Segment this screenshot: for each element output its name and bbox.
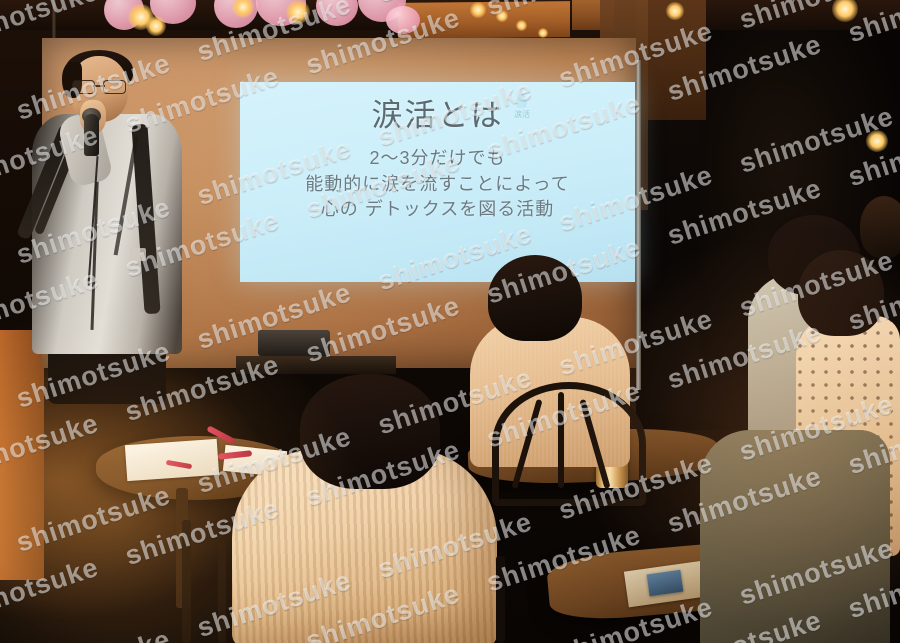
slide-body-line: 心の デトックスを図る活動 <box>305 197 570 223</box>
string-light-bulb <box>832 0 858 22</box>
flower-decoration <box>316 0 358 26</box>
slide-logo-label: 涙活 <box>503 109 541 120</box>
string-light-bulb <box>666 2 684 20</box>
string-light-bulb <box>286 0 310 24</box>
string-light-bulb <box>866 130 888 152</box>
teardrop-icon <box>514 90 529 110</box>
flower-light-decoration <box>0 0 900 40</box>
string-light-bulb <box>496 10 508 22</box>
audience-hair <box>300 374 440 489</box>
glasses-lens <box>72 80 95 94</box>
eyeglasses-icon <box>72 80 126 92</box>
string-light-bulb <box>146 16 166 36</box>
projector-unit <box>258 330 330 356</box>
chair-leg <box>182 520 191 643</box>
audience-hair <box>488 255 582 341</box>
glasses-lens <box>103 80 126 94</box>
audience-hair <box>798 250 884 336</box>
slide-body-line: 2〜3分だけでも <box>305 146 570 172</box>
audience-member <box>232 388 502 643</box>
name-badge <box>130 248 146 261</box>
audience-torso <box>700 430 890 643</box>
slide-body: 2〜3分だけでも 能動的に涙を流すことによって 心の デトックスを図る活動 <box>305 146 570 223</box>
photograph: 涙活とは 2〜3分だけでも 能動的に涙を流すことによって 心の デトックスを図る… <box>0 0 900 643</box>
equipment-shelf <box>236 356 396 374</box>
presenter <box>18 52 193 352</box>
projected-slide: 涙活とは 2〜3分だけでも 能動的に涙を流すことによって 心の デトックスを図る… <box>240 82 635 282</box>
teardrop-logo-icon: 涙活 <box>503 90 541 130</box>
microphone-icon <box>84 114 99 156</box>
string-light-bulb <box>516 20 527 31</box>
wood-panel <box>0 330 44 580</box>
chair-spoke <box>558 392 564 488</box>
string-light-bulb <box>470 2 486 18</box>
chair-leg <box>218 540 226 643</box>
slide-body-line: 能動的に涙を流すことによって <box>305 172 570 198</box>
glasses-bridge <box>93 85 105 87</box>
flower-decoration <box>386 6 420 34</box>
slide-title: 涙活とは <box>372 100 504 131</box>
string-light-bulb <box>538 28 548 38</box>
chair-leg <box>496 556 505 643</box>
flyer-photo <box>647 570 684 597</box>
audience-member <box>700 430 890 643</box>
